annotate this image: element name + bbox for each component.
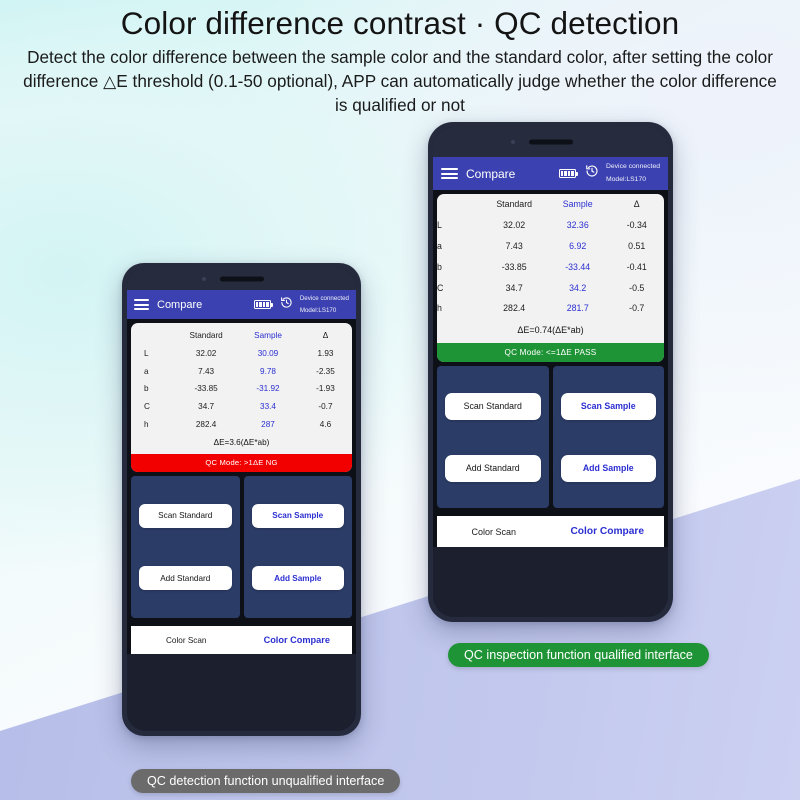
col-header-delta: Δ: [609, 194, 664, 215]
earpiece-speaker: [529, 140, 573, 145]
row-label: h: [437, 298, 482, 319]
row-sample: -33.44: [546, 256, 610, 277]
sample-pane: Scan Sample Add Sample: [553, 366, 665, 508]
scan-standard-button[interactable]: Scan Standard: [445, 393, 541, 420]
row-delta: -0.34: [609, 215, 664, 236]
phone-chin-right: [433, 547, 668, 617]
action-panes-right: Scan Standard Add Standard Scan Sample A…: [437, 366, 664, 508]
row-label: a: [437, 236, 482, 257]
phone-mockup-unqualified: Compare Device connected Model:LS170: [122, 263, 361, 736]
col-header-standard: Standard: [175, 323, 237, 344]
table-header-row: Standard Sample Δ: [131, 323, 352, 344]
phone-mockup-qualified: Compare Device connected Model:LS170: [428, 122, 673, 622]
action-panes-left: Scan Standard Add Standard Scan Sample A…: [131, 476, 352, 619]
delta-e-summary: ΔE=3.6(ΔE*ab): [131, 433, 352, 454]
standard-pane: Scan Standard Add Standard: [437, 366, 549, 508]
table-row: b -33.85 -33.44 -0.41: [437, 256, 664, 277]
lab-values-table-right: Standard Sample Δ L 32.02 32.36 -0.34: [437, 194, 664, 319]
standard-pane: Scan Standard Add Standard: [131, 476, 240, 619]
row-delta: -2.35: [299, 362, 352, 380]
row-sample: 9.78: [237, 362, 299, 380]
scan-sample-button[interactable]: Scan Sample: [561, 393, 657, 420]
row-standard: -33.85: [482, 256, 546, 277]
page-subtitle: Detect the color difference between the …: [20, 46, 780, 117]
col-header-sample: Sample: [546, 194, 610, 215]
table-row: h 282.4 281.7 -0.7: [437, 298, 664, 319]
add-sample-button[interactable]: Add Sample: [561, 455, 657, 482]
table-row: a 7.43 9.78 -2.35: [131, 362, 352, 380]
row-delta: -0.7: [299, 398, 352, 416]
row-sample: 30.09: [237, 344, 299, 362]
phone-screen-right: Compare Device connected Model:LS170: [433, 127, 668, 617]
device-model: Model:LS170: [606, 174, 660, 187]
battery-icon: [559, 169, 576, 178]
phone-chin-left: [127, 654, 356, 731]
comparison-card-left: Standard Sample Δ L 32.02 30.09 1.93: [131, 323, 352, 472]
scan-sample-button[interactable]: Scan Sample: [252, 504, 345, 528]
row-label: a: [131, 362, 175, 380]
row-delta: 1.93: [299, 344, 352, 362]
row-sample: 281.7: [546, 298, 610, 319]
lab-values-table-left: Standard Sample Δ L 32.02 30.09 1.93: [131, 323, 352, 433]
row-sample: 32.36: [546, 215, 610, 236]
tab-color-compare[interactable]: Color Compare: [242, 635, 353, 645]
table-row: C 34.7 33.4 -0.7: [131, 398, 352, 416]
bottom-nav-left: Color Scan Color Compare: [131, 626, 352, 654]
add-standard-button[interactable]: Add Standard: [139, 566, 232, 590]
row-standard: 34.7: [482, 277, 546, 298]
row-delta: -0.7: [609, 298, 664, 319]
phone-screen-left: Compare Device connected Model:LS170: [127, 268, 356, 731]
battery-icon: [254, 300, 271, 309]
table-row: h 282.4 287 4.6: [131, 416, 352, 434]
status-badge: QC Mode: >1ΔE NG: [131, 454, 352, 472]
tab-color-scan[interactable]: Color Scan: [131, 636, 242, 645]
col-header-label: [437, 194, 482, 215]
row-sample: 6.92: [546, 236, 610, 257]
phone-notch-left: [127, 268, 356, 290]
row-delta: 0.51: [609, 236, 664, 257]
front-camera-icon: [511, 140, 515, 144]
col-header-standard: Standard: [482, 194, 546, 215]
row-sample: -31.92: [237, 380, 299, 398]
row-label: L: [437, 215, 482, 236]
add-standard-button[interactable]: Add Standard: [445, 455, 541, 482]
hamburger-icon[interactable]: [441, 168, 458, 179]
row-label: h: [131, 416, 175, 434]
header-block: Color difference contrast · QC detection…: [0, 0, 800, 118]
row-sample: 33.4: [237, 398, 299, 416]
table-row: b -33.85 -31.92 -1.93: [131, 380, 352, 398]
row-standard: 32.02: [175, 344, 237, 362]
row-sample: 34.2: [546, 277, 610, 298]
row-label: C: [131, 398, 175, 416]
row-standard: 7.43: [175, 362, 237, 380]
device-info-left: Device connected Model:LS170: [300, 293, 349, 316]
device-info-right: Device connected Model:LS170: [606, 161, 660, 186]
table-row: a 7.43 6.92 0.51: [437, 236, 664, 257]
caption-qualified: QC inspection function qualified interfa…: [448, 643, 709, 667]
app-bar-left: Compare Device connected Model:LS170: [127, 290, 356, 319]
table-row: L 32.02 30.09 1.93: [131, 344, 352, 362]
row-delta: -1.93: [299, 380, 352, 398]
device-model: Model:LS170: [300, 305, 349, 316]
clock-history-icon[interactable]: [585, 164, 599, 183]
delta-e-summary: ΔE=0.74(ΔE*ab): [437, 319, 664, 343]
add-sample-button[interactable]: Add Sample: [252, 566, 345, 590]
row-standard: 7.43: [482, 236, 546, 257]
scan-standard-button[interactable]: Scan Standard: [139, 504, 232, 528]
row-standard: 32.02: [482, 215, 546, 236]
bottom-nav-right: Color Scan Color Compare: [437, 516, 664, 547]
screen-content-right: Standard Sample Δ L 32.02 32.36 -0.34: [433, 190, 668, 547]
clock-history-icon[interactable]: [280, 296, 293, 314]
row-delta: -0.5: [609, 277, 664, 298]
row-delta: -0.41: [609, 256, 664, 277]
page-title: Color difference contrast · QC detection: [0, 0, 800, 42]
app-bar-title: Compare: [157, 299, 202, 311]
row-label: L: [131, 344, 175, 362]
col-header-delta: Δ: [299, 323, 352, 344]
promo-graphic: Color difference contrast · QC detection…: [0, 0, 800, 800]
row-standard: 282.4: [482, 298, 546, 319]
device-status: Device connected: [606, 161, 660, 174]
table-row: C 34.7 34.2 -0.5: [437, 277, 664, 298]
table-row: L 32.02 32.36 -0.34: [437, 215, 664, 236]
caption-unqualified: QC detection function unqualified interf…: [131, 769, 400, 793]
table-header-row: Standard Sample Δ: [437, 194, 664, 215]
row-standard: -33.85: [175, 380, 237, 398]
sample-pane: Scan Sample Add Sample: [244, 476, 353, 619]
tab-color-scan[interactable]: Color Scan: [437, 527, 551, 537]
row-sample: 287: [237, 416, 299, 434]
row-label: b: [437, 256, 482, 277]
row-standard: 282.4: [175, 416, 237, 434]
hamburger-icon[interactable]: [134, 299, 149, 310]
row-delta: 4.6: [299, 416, 352, 434]
comparison-card-right: Standard Sample Δ L 32.02 32.36 -0.34: [437, 194, 664, 362]
app-bar-right: Compare Device connected Model:LS170: [433, 157, 668, 190]
device-status: Device connected: [300, 293, 349, 304]
phone-notch-right: [433, 127, 668, 157]
front-camera-icon: [202, 277, 206, 281]
tab-color-compare[interactable]: Color Compare: [551, 526, 665, 537]
row-label: C: [437, 277, 482, 298]
col-header-sample: Sample: [237, 323, 299, 344]
col-header-label: [131, 323, 175, 344]
status-badge: QC Mode: <=1ΔE PASS: [437, 343, 664, 363]
row-standard: 34.7: [175, 398, 237, 416]
app-bar-title: Compare: [466, 167, 515, 181]
screen-content-left: Standard Sample Δ L 32.02 30.09 1.93: [127, 319, 356, 654]
earpiece-speaker: [220, 277, 264, 282]
row-label: b: [131, 380, 175, 398]
